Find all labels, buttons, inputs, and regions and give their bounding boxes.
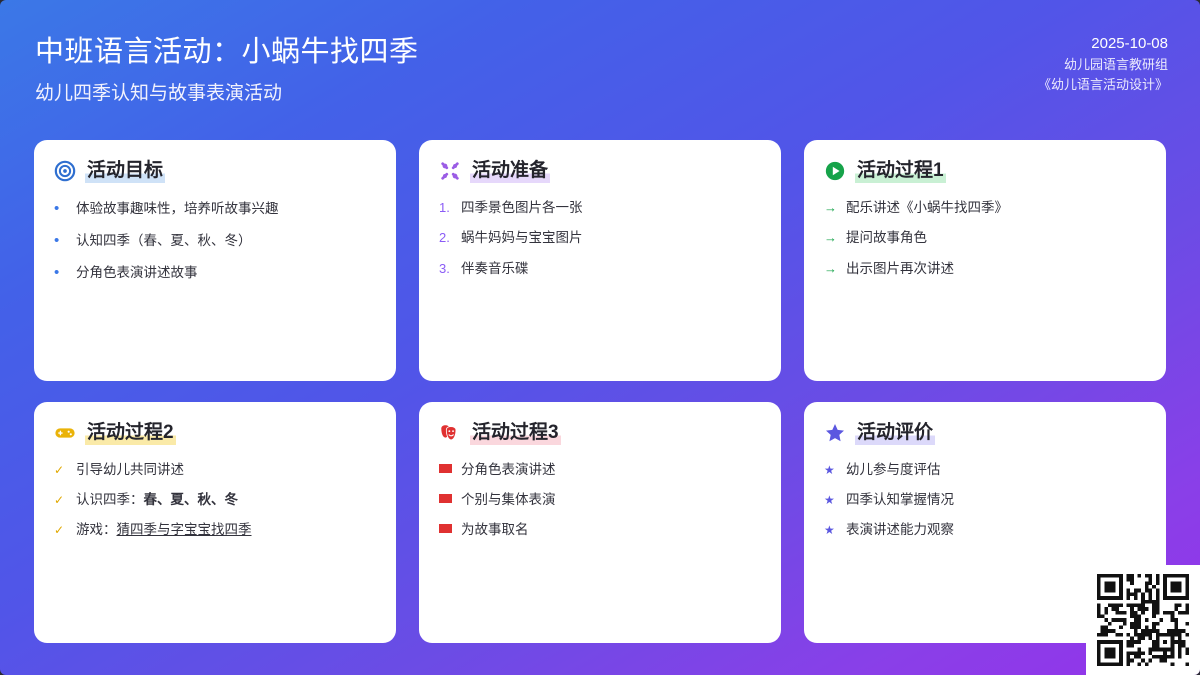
list-marker-check: ✓ xyxy=(54,523,67,539)
list-marker-check: ✓ xyxy=(54,463,67,479)
list-marker-star: ★ xyxy=(824,493,837,509)
card-item-list: 分角色表演讲述个别与集体表演为故事取名 xyxy=(439,461,761,539)
list-marker-square xyxy=(439,464,452,473)
list-item-text: 四季认知掌握情况 xyxy=(846,491,954,509)
meta-organization: 幼儿园语言教研组 xyxy=(1038,55,1168,75)
card-title: 活动准备 xyxy=(470,160,550,183)
list-item-text: 四季景色图片各一张 xyxy=(461,199,583,217)
list-marker-dot: • xyxy=(54,263,67,283)
list-item: •分角色表演讲述故事 xyxy=(54,263,376,283)
slide-header: 中班语言活动：小蜗牛找四季 幼儿四季认知与故事表演活动 2025-10-08 幼… xyxy=(0,0,1200,130)
list-item: •体验故事趣味性，培养听故事兴趣 xyxy=(54,199,376,219)
card-activity-process-3: 活动过程3分角色表演讲述个别与集体表演为故事取名 xyxy=(419,402,781,643)
list-item-text: 提问故事角色 xyxy=(846,229,927,247)
page-title: 中班语言活动：小蜗牛找四季 xyxy=(35,28,419,70)
list-item-emphasis: 春、夏、秋、冬 xyxy=(144,492,239,507)
list-marker-number: 2. xyxy=(439,230,452,247)
card-title: 活动过程2 xyxy=(85,422,176,445)
card-item-list: 1.四季景色图片各一张2.蜗牛妈妈与宝宝图片3.伴奏音乐碟 xyxy=(439,199,761,278)
card-title: 活动目标 xyxy=(85,160,165,183)
list-item-link: 猜四季与字宝宝找四季 xyxy=(117,522,252,537)
list-marker-arrow: → xyxy=(824,261,837,278)
list-item-text: 认识四季：春、夏、秋、冬 xyxy=(76,491,238,509)
list-marker-star: ★ xyxy=(824,463,837,479)
card-item-list: ✓引导幼儿共同讲述✓认识四季：春、夏、秋、冬✓游戏：猜四季与字宝宝找四季 xyxy=(54,461,376,539)
page-subtitle: 幼儿四季认知与故事表演活动 xyxy=(35,78,282,105)
list-item: 3.伴奏音乐碟 xyxy=(439,260,761,278)
list-item-text: 分角色表演讲述 xyxy=(461,461,556,479)
card-item-list: •体验故事趣味性，培养听故事兴趣•认知四季（春、夏、秋、冬）•分角色表演讲述故事 xyxy=(54,199,376,283)
list-item-text: 幼儿参与度评估 xyxy=(846,461,941,479)
list-marker-dot: • xyxy=(54,199,67,219)
list-item-text: 游戏：猜四季与字宝宝找四季 xyxy=(76,521,252,539)
list-item-text: 出示图片再次讲述 xyxy=(846,260,954,278)
list-item: 为故事取名 xyxy=(439,521,761,539)
list-marker-arrow: → xyxy=(824,230,837,247)
card-item-list: ★幼儿参与度评估★四季认知掌握情况★表演讲述能力观察 xyxy=(824,461,1146,539)
list-item: ★四季认知掌握情况 xyxy=(824,491,1146,509)
list-marker-number: 3. xyxy=(439,261,452,278)
list-item: ✓引导幼儿共同讲述 xyxy=(54,461,376,479)
card-activity-preparation: 活动准备1.四季景色图片各一张2.蜗牛妈妈与宝宝图片3.伴奏音乐碟 xyxy=(419,140,781,381)
play-circle-icon xyxy=(824,160,846,182)
list-item: 2.蜗牛妈妈与宝宝图片 xyxy=(439,229,761,247)
list-marker-star: ★ xyxy=(824,523,837,539)
list-item-text: 表演讲述能力观察 xyxy=(846,521,954,539)
card-header: 活动过程1 xyxy=(824,160,1146,183)
list-marker-dot: • xyxy=(54,231,67,251)
list-item: •认知四季（春、夏、秋、冬） xyxy=(54,231,376,251)
list-marker-arrow: → xyxy=(824,200,837,217)
list-item: 分角色表演讲述 xyxy=(439,461,761,479)
list-item: ★幼儿参与度评估 xyxy=(824,461,1146,479)
gamepad-icon xyxy=(54,422,76,444)
card-header: 活动目标 xyxy=(54,160,376,183)
list-marker-check: ✓ xyxy=(54,493,67,509)
star-icon xyxy=(824,422,846,444)
list-item-text: 伴奏音乐碟 xyxy=(461,260,529,278)
list-item-text: 认知四季（春、夏、秋、冬） xyxy=(76,232,252,250)
list-item-text: 分角色表演讲述故事 xyxy=(76,264,198,282)
theater-masks-icon xyxy=(439,422,461,444)
card-header: 活动准备 xyxy=(439,160,761,183)
header-meta: 2025-10-08 幼儿园语言教研组 《幼儿语言活动设计》 xyxy=(1038,32,1168,96)
list-item: →提问故事角色 xyxy=(824,229,1146,247)
list-item-prefix: 认识四季： xyxy=(76,492,144,507)
slide-root: 中班语言活动：小蜗牛找四季 幼儿四季认知与故事表演活动 2025-10-08 幼… xyxy=(0,0,1200,675)
list-item: ✓认识四季：春、夏、秋、冬 xyxy=(54,491,376,509)
list-item: →配乐讲述《小蜗牛找四季》 xyxy=(824,199,1146,217)
list-item-text: 为故事取名 xyxy=(461,521,529,539)
qr-code-panel[interactable] xyxy=(1086,565,1200,675)
list-item: ✓游戏：猜四季与字宝宝找四季 xyxy=(54,521,376,539)
card-title: 活动过程1 xyxy=(855,160,946,183)
list-marker-square xyxy=(439,524,452,533)
list-item-prefix: 游戏： xyxy=(76,522,117,537)
card-title: 活动过程3 xyxy=(470,422,561,445)
list-item: 1.四季景色图片各一张 xyxy=(439,199,761,217)
qr-code-icon xyxy=(1097,574,1189,666)
list-marker-square xyxy=(439,494,452,503)
meta-book: 《幼儿语言活动设计》 xyxy=(1038,75,1168,95)
card-header: 活动过程3 xyxy=(439,422,761,445)
target-icon xyxy=(54,160,76,182)
list-item: 个别与集体表演 xyxy=(439,491,761,509)
list-item-text: 配乐讲述《小蜗牛找四季》 xyxy=(846,199,1008,217)
list-marker-number: 1. xyxy=(439,200,452,217)
card-grid: 活动目标•体验故事趣味性，培养听故事兴趣•认知四季（春、夏、秋、冬）•分角色表演… xyxy=(34,140,1166,643)
card-item-list: →配乐讲述《小蜗牛找四季》→提问故事角色→出示图片再次讲述 xyxy=(824,199,1146,278)
list-item: →出示图片再次讲述 xyxy=(824,260,1146,278)
list-item-text: 蜗牛妈妈与宝宝图片 xyxy=(461,229,583,247)
list-item-text: 体验故事趣味性，培养听故事兴趣 xyxy=(76,200,279,218)
list-item-text: 引导幼儿共同讲述 xyxy=(76,461,184,479)
card-activity-goal: 活动目标•体验故事趣味性，培养听故事兴趣•认知四季（春、夏、秋、冬）•分角色表演… xyxy=(34,140,396,381)
list-item: ★表演讲述能力观察 xyxy=(824,521,1146,539)
meta-date: 2025-10-08 xyxy=(1038,32,1168,55)
tools-icon xyxy=(439,160,461,182)
card-header: 活动过程2 xyxy=(54,422,376,445)
card-title: 活动评价 xyxy=(855,422,935,445)
list-item-text: 个别与集体表演 xyxy=(461,491,556,509)
card-activity-process-2: 活动过程2✓引导幼儿共同讲述✓认识四季：春、夏、秋、冬✓游戏：猜四季与字宝宝找四… xyxy=(34,402,396,643)
card-header: 活动评价 xyxy=(824,422,1146,445)
card-activity-process-1: 活动过程1→配乐讲述《小蜗牛找四季》→提问故事角色→出示图片再次讲述 xyxy=(804,140,1166,381)
